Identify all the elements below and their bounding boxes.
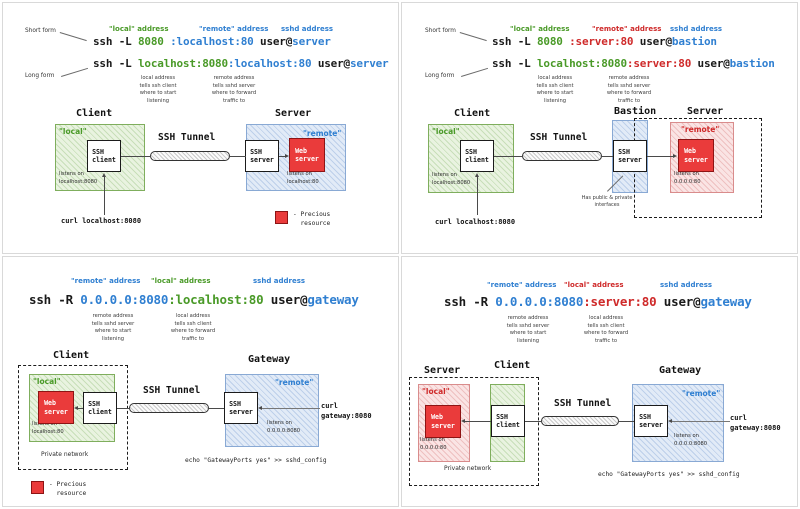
cmd-remote: :server:80 (569, 35, 633, 48)
host-title-gateway: Gateway (248, 354, 290, 365)
wire-curl (104, 175, 105, 215)
legend-text-precious: - Precious resource (293, 210, 330, 229)
ssh-tunnel-pipe (541, 416, 619, 426)
note-remote-address: remote address tells sshd server where t… (199, 75, 269, 105)
cmd-user: user@ (633, 35, 672, 48)
cmd-prefix: ssh -L (492, 35, 537, 48)
host-title-server: Server (687, 106, 723, 117)
note-remote-address: remote address tells sshd server where t… (75, 313, 151, 343)
gateway-listens-label: listens on 0.0.0.0:8080 (267, 420, 300, 435)
cmd-local: 8080 (138, 35, 164, 48)
tag-local: "local" (33, 377, 61, 386)
panel-remote-forward-server: "remote" address "local" address sshd ad… (401, 256, 798, 507)
label-sshd-address: sshd address (253, 277, 305, 285)
tunnel-label: SSH Tunnel (554, 398, 611, 409)
curl-command: curl localhost:8080 (61, 216, 141, 226)
arrow-to-web-server (74, 406, 78, 410)
note-local-address: local address tells ssh client where to … (123, 75, 193, 105)
label-local-address: "local" address (564, 281, 624, 289)
leader-line-long (61, 68, 88, 77)
cmd-remote: 0.0.0.0:8080 (80, 292, 168, 307)
command-remote-forward: ssh -R 0.0.0.0:8080:server:80 user@gatew… (444, 295, 752, 309)
bastion-interfaces-note: Has public & private interfaces (562, 195, 652, 209)
wire-tunnel-to-server (230, 156, 246, 157)
node-ssh-client: SSH client (87, 140, 121, 172)
ssh-tunnel-pipe (150, 151, 230, 161)
cmd-prefix: ssh -L (492, 57, 537, 70)
cmd-prefix: ssh -R (29, 292, 80, 307)
short-form-label: Short form (25, 28, 56, 34)
label-local-address: "local" address (151, 277, 211, 285)
command-long-form: ssh -L localhost:8080:server:80 user@bas… (492, 58, 775, 71)
wire-curl-to-gateway (672, 421, 730, 422)
wire-curl (477, 175, 478, 215)
label-remote-address: "remote" address (592, 25, 661, 33)
tag-remote: "remote" (681, 125, 719, 134)
label-sshd-address: sshd address (670, 25, 722, 33)
command-short-form: ssh -L 8080 :localhost:80 user@server (93, 36, 331, 49)
host-title-client: Client (53, 350, 89, 361)
cmd-user: user@ (656, 294, 700, 309)
label-local-address: "local" address (109, 25, 169, 33)
tunnel-label: SSH Tunnel (530, 132, 587, 143)
wire-tunnel-to-gateway (209, 408, 224, 409)
cmd-host: bastion (672, 35, 717, 48)
arrow-to-web-server (285, 154, 289, 158)
client-listens-label: listens on localhost:8080 (432, 172, 470, 187)
cmd-local: localhost:8080 (138, 57, 228, 70)
gateway-listens-label: listens on 0.0.0.0:8080 (674, 433, 707, 448)
note-remote-address: remote address tells sshd server where t… (594, 75, 664, 105)
leader-line-long (461, 68, 488, 77)
tag-local: "local" (59, 127, 87, 136)
note-local-address: local address tells ssh client where to … (568, 315, 644, 345)
node-web-server: Web server (425, 405, 461, 438)
cmd-remote: :localhost:80 (170, 35, 254, 48)
cmd-user: user@ (254, 35, 293, 48)
short-form-label: Short form (425, 28, 456, 34)
cmd-host: server (292, 35, 331, 48)
label-remote-address: "remote" address (199, 25, 268, 33)
cmd-host: server (350, 57, 389, 70)
tag-remote: "remote" (303, 129, 341, 138)
node-web-server: Web server (38, 391, 74, 424)
private-network-label: Private network (41, 451, 88, 458)
node-ssh-server: SSH server (613, 140, 647, 172)
wire-client-to-tunnel (525, 421, 541, 422)
ssh-tunnel-pipe (522, 151, 602, 161)
panel-local-forward-basic: "local" address "remote" address sshd ad… (2, 2, 399, 254)
node-ssh-client: SSH client (83, 392, 117, 424)
node-ssh-server: SSH server (245, 140, 279, 172)
tunnel-label: SSH Tunnel (143, 385, 200, 396)
curl-command: curl gateway:8080 (321, 401, 372, 421)
long-form-label: Long form (25, 73, 54, 79)
node-ssh-client: SSH client (460, 140, 494, 172)
wire-tunnel-to-gateway (619, 421, 634, 422)
cmd-user: user@ (691, 57, 730, 70)
note-local-address: local address tells ssh client where to … (155, 313, 231, 343)
wire-client-to-tunnel (117, 408, 129, 409)
cmd-local: 8080 (537, 35, 563, 48)
cmd-local: localhost:8080 (537, 57, 627, 70)
curl-command: curl gateway:8080 (730, 413, 781, 433)
label-remote-address: "remote" address (71, 277, 140, 285)
note-remote-address: remote address tells sshd server where t… (490, 315, 566, 345)
cmd-remote: 0.0.0.0:8080 (495, 294, 583, 309)
panel-remote-forward-basic: "remote" address "local" address sshd ad… (2, 256, 399, 507)
arrow-curl-left (668, 419, 672, 423)
host-title-server: Server (275, 108, 311, 119)
arrow-to-web-server (461, 419, 465, 423)
cmd-prefix: ssh -R (444, 294, 495, 309)
wire-client-to-tunnel (494, 156, 522, 157)
panel-local-forward-bastion: "local" address "remote" address sshd ad… (401, 2, 798, 254)
node-web-server: Web server (289, 138, 325, 172)
node-ssh-server: SSH server (224, 392, 258, 424)
host-title-server: Server (424, 365, 460, 376)
tag-local: "local" (422, 387, 450, 396)
wire-sshclient-to-web (78, 408, 83, 409)
wire-bastion-to-web (647, 156, 674, 157)
arrow-to-web-server (673, 154, 677, 158)
ssh-tunnel-pipe (129, 403, 209, 413)
wire-sshclient-to-web (465, 421, 491, 422)
ssh-port-forwarding-cheatsheet: "local" address "remote" address sshd ad… (0, 0, 800, 509)
cmd-host: gateway (307, 292, 358, 307)
cmd-user: user@ (263, 292, 307, 307)
wire-client-to-tunnel (121, 156, 150, 157)
node-web-server: Web server (678, 139, 714, 172)
note-local-address: local address tells ssh client where to … (520, 75, 590, 105)
echo-gatewayports-command: echo "GatewayPorts yes" >> sshd_config (185, 457, 327, 464)
cmd-remote: :server:80 (627, 57, 691, 70)
private-network-label: Private network (444, 465, 491, 472)
server-listens-label: listens on 0.0.0.0:80 (674, 171, 701, 186)
tag-local: "local" (432, 127, 460, 136)
arrow-curl-left (258, 406, 262, 410)
node-ssh-server: SSH server (634, 405, 668, 437)
host-title-bastion: Bastion (614, 106, 656, 117)
curl-command: curl localhost:8080 (435, 217, 515, 227)
server-listens-label: listens on 0.0.0.0:80 (420, 437, 447, 452)
arrow-curl-up (102, 173, 106, 177)
long-form-label: Long form (425, 73, 454, 79)
host-title-client: Client (76, 108, 112, 119)
cmd-remote: :localhost:80 (228, 57, 312, 70)
label-local-address: "local" address (510, 25, 570, 33)
legend-swatch-precious (31, 481, 44, 494)
host-title-client: Client (454, 108, 490, 119)
cmd-prefix: ssh -L (93, 57, 138, 70)
wire-curl-to-gateway (262, 408, 320, 409)
cmd-user: user@ (311, 57, 350, 70)
client-listens-label: listens on localhost:8080 (59, 171, 97, 186)
server-listens-label: listens on localhost:80 (287, 171, 319, 186)
label-sshd-address: sshd address (281, 25, 333, 33)
command-long-form: ssh -L localhost:8080:localhost:80 user@… (93, 58, 388, 71)
echo-gatewayports-command: echo "GatewayPorts yes" >> sshd_config (598, 471, 740, 478)
arrow-curl-up (475, 173, 479, 177)
command-short-form: ssh -L 8080 :server:80 user@bastion (492, 36, 717, 49)
tag-remote: "remote" (275, 378, 313, 387)
cmd-prefix: ssh -L (93, 35, 138, 48)
cmd-host: bastion (730, 57, 775, 70)
label-sshd-address: sshd address (660, 281, 712, 289)
cmd-local: :server:80 (583, 294, 656, 309)
legend-swatch-precious (275, 211, 288, 224)
host-title-client: Client (494, 360, 530, 371)
host-title-gateway: Gateway (659, 365, 701, 376)
cmd-host: gateway (700, 294, 751, 309)
leader-line-short (460, 32, 487, 41)
wire-tunnel-to-bastion (602, 156, 613, 157)
leader-line-short (60, 32, 87, 41)
node-ssh-client: SSH client (491, 405, 525, 437)
command-remote-forward: ssh -R 0.0.0.0:8080:localhost:80 user@ga… (29, 293, 359, 307)
cmd-local: :localhost:80 (168, 292, 263, 307)
legend-text-precious: - Precious resource (49, 480, 86, 499)
tag-remote: "remote" (682, 389, 720, 398)
tunnel-label: SSH Tunnel (158, 132, 215, 143)
label-remote-address: "remote" address (487, 281, 556, 289)
